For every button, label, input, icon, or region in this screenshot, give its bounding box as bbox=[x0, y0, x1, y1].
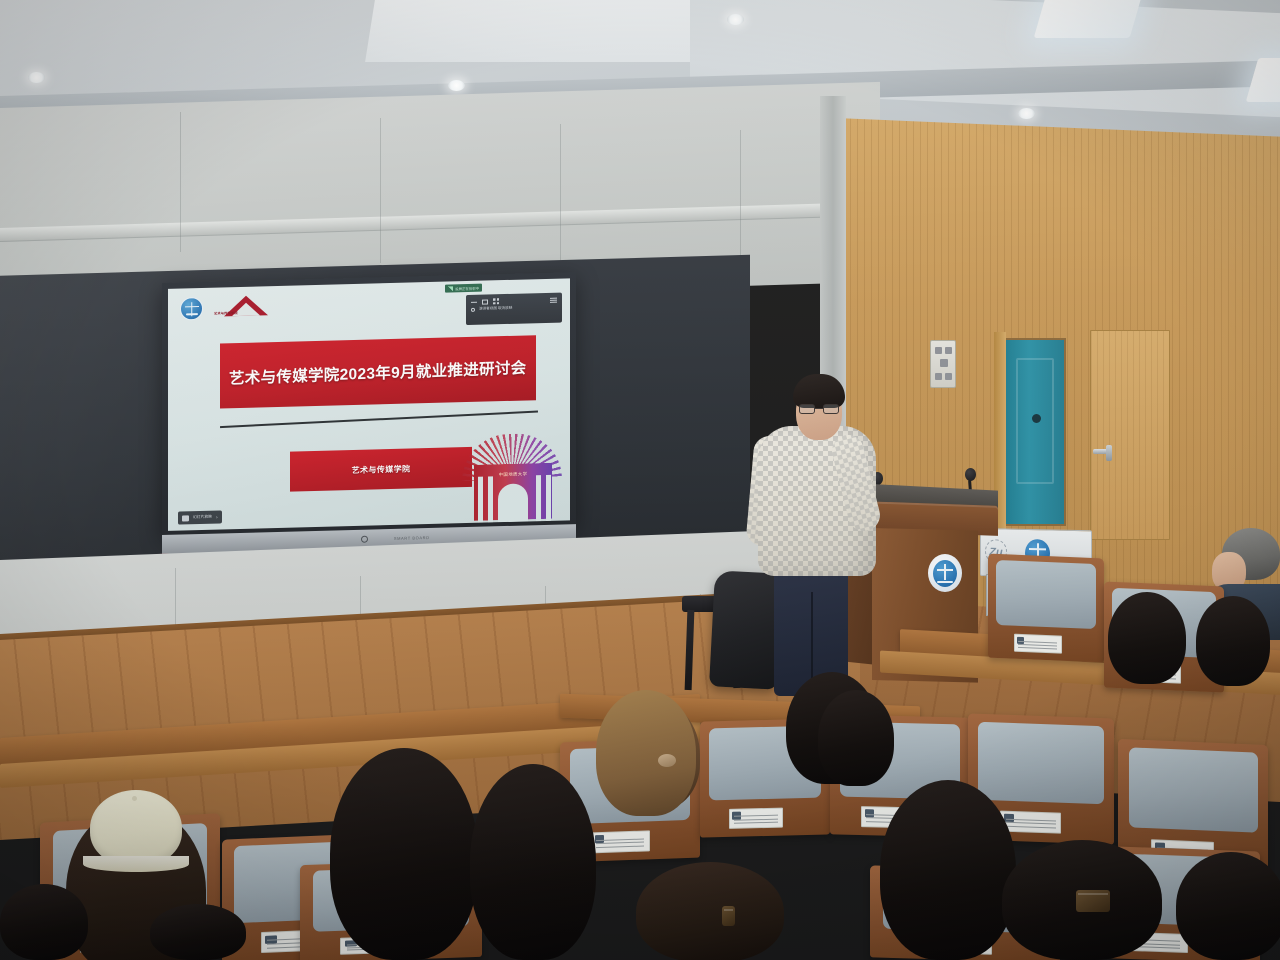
slide-divider-rule bbox=[220, 411, 538, 429]
gooseneck-microphone-icon bbox=[965, 468, 976, 481]
seat-number-placard-icon bbox=[591, 831, 650, 853]
presentation-screen[interactable]: 艺术与传媒学院 投屏正在投射中 演讲者视图 取消放映 bbox=[168, 278, 570, 531]
recessed-downlight-icon bbox=[28, 72, 45, 83]
pen-tool-icon[interactable] bbox=[471, 307, 475, 311]
audience-hair bbox=[330, 748, 478, 960]
screen-cast-label: 投屏正在投射中 bbox=[455, 285, 479, 291]
minimize-icon[interactable] bbox=[471, 301, 477, 302]
chevron-right-icon[interactable]: › bbox=[216, 514, 218, 520]
slide-subtitle-banner: 艺术与传媒学院 bbox=[290, 447, 472, 492]
slideshow-control-bar[interactable]: 幻灯片放映 › bbox=[178, 510, 222, 524]
audience-hair bbox=[818, 690, 894, 786]
signal-icon bbox=[448, 286, 453, 291]
slide-thumbnail-icon[interactable] bbox=[182, 515, 189, 521]
display-brand-label: SMART BOARD bbox=[394, 535, 430, 541]
audience-hair bbox=[470, 764, 596, 960]
audience-hair bbox=[1196, 596, 1270, 686]
seat-number-placard-icon bbox=[729, 808, 784, 829]
audience-hair bbox=[880, 780, 1016, 960]
teal-metal-door-icon[interactable] bbox=[1004, 338, 1066, 526]
window-restore-icon[interactable] bbox=[482, 299, 488, 304]
slide-logo-group: 艺术与传媒学院 bbox=[180, 294, 278, 321]
slide-title-banner: 艺术与传媒学院2023年9月就业推进研讨会 bbox=[220, 335, 536, 408]
presenter-hair bbox=[793, 374, 845, 408]
recessed-downlight-icon bbox=[727, 14, 744, 25]
slide-title: 艺术与传媒学院2023年9月就业推进研讨会 bbox=[229, 355, 526, 388]
slide-logo-label: 艺术与传媒学院 bbox=[214, 310, 238, 316]
audience-hair bbox=[1176, 852, 1280, 960]
cream-baseball-cap-icon bbox=[90, 790, 182, 866]
hair-clip-icon bbox=[1076, 890, 1110, 912]
hair-scrunchie-icon bbox=[658, 754, 676, 767]
slide-subtitle: 艺术与传媒学院 bbox=[352, 463, 411, 476]
hamburger-menu-icon[interactable] bbox=[550, 297, 557, 302]
audience-hair bbox=[150, 904, 246, 960]
lecture-hall-scene: 艺术与传媒学院 投屏正在投射中 演讲者视图 取消放映 bbox=[0, 0, 1280, 960]
grid-view-icon[interactable] bbox=[493, 298, 499, 304]
power-indicator-icon[interactable] bbox=[361, 536, 368, 543]
eyeglasses-icon bbox=[799, 404, 839, 414]
wooden-door-icon[interactable] bbox=[1090, 330, 1170, 540]
wall-switch-panel-icon[interactable] bbox=[930, 340, 956, 388]
audience-hair bbox=[0, 884, 88, 960]
audience-hair bbox=[636, 862, 784, 960]
interactive-whiteboard-icon[interactable]: 艺术与传媒学院 投屏正在投射中 演讲者视图 取消放映 bbox=[162, 272, 576, 537]
presenter bbox=[748, 370, 898, 690]
door-knob-icon[interactable] bbox=[1032, 414, 1041, 423]
seat-number-placard-icon bbox=[1014, 634, 1063, 654]
campus-gateway-icon: 中国地质大学 bbox=[456, 428, 568, 523]
hair-clip-icon bbox=[722, 906, 735, 926]
university-emblem-icon bbox=[928, 554, 962, 592]
university-seal-icon bbox=[180, 296, 203, 320]
audience-hair bbox=[596, 690, 696, 816]
toolbar-label: 演讲者视图 取消放映 bbox=[479, 306, 512, 312]
screen-cast-status-badge: 投屏正在投射中 bbox=[445, 284, 482, 293]
recessed-downlight-icon bbox=[448, 80, 465, 91]
audience-hair bbox=[1108, 592, 1186, 684]
led-panel-light-icon bbox=[1034, 0, 1143, 38]
auditorium-seat[interactable] bbox=[988, 554, 1104, 663]
slideshow-label: 幻灯片放映 bbox=[193, 515, 212, 520]
recessed-downlight-icon bbox=[1018, 108, 1035, 119]
presentation-toolbar[interactable]: 演讲者视图 取消放映 bbox=[466, 293, 562, 326]
red-mountain-logo-icon: 艺术与传媒学院 bbox=[210, 294, 278, 320]
lever-handle-icon[interactable] bbox=[1093, 449, 1112, 454]
